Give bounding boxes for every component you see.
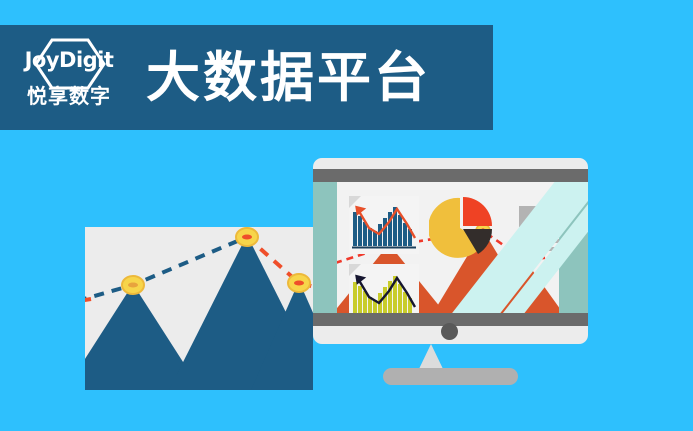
document-block [519,206,559,250]
monitor-bezel-top [313,169,588,182]
document-text-line [519,231,559,235]
monitor-screen [313,182,588,313]
document-header-bar [519,206,559,227]
document-text-line [519,239,559,243]
bar-line-chart-card-top [349,196,419,254]
data-point-markers [122,228,310,294]
pie-slice-red [463,197,492,226]
desktop-monitor [313,158,588,344]
page-title: 大数据平台 [146,51,431,105]
bars [353,276,412,313]
brand-logo-subtitle: 悦享数字 [27,87,111,107]
brand-logo-mark: JoyDigit [25,50,114,71]
monitor-stand-neck [418,344,444,371]
pie-chart [429,196,495,262]
card-fold-corner [349,264,361,276]
card-fold-corner [349,196,361,208]
dashboard-surface [337,182,559,313]
bar-line-chart-bottom-svg [349,264,419,313]
bar-line-chart-card-bottom [349,264,419,313]
brand-logo: JoyDigit 悦享数字 [14,36,124,120]
trend-line-orange-tip [85,299,91,301]
poster-canvas: JoyDigit 悦享数字 大数据平台 [0,0,693,431]
header-banner: JoyDigit 悦享数字 大数据平台 [0,25,493,130]
document-text-line [519,247,559,251]
bars [353,207,412,246]
monitor-stand-base [383,368,518,385]
mountain-line-chart-panel [85,227,313,390]
left-mountain-chart-svg [85,227,313,390]
bar-line-chart-top-svg [349,196,419,254]
monitor-webcam-icon [441,323,458,340]
